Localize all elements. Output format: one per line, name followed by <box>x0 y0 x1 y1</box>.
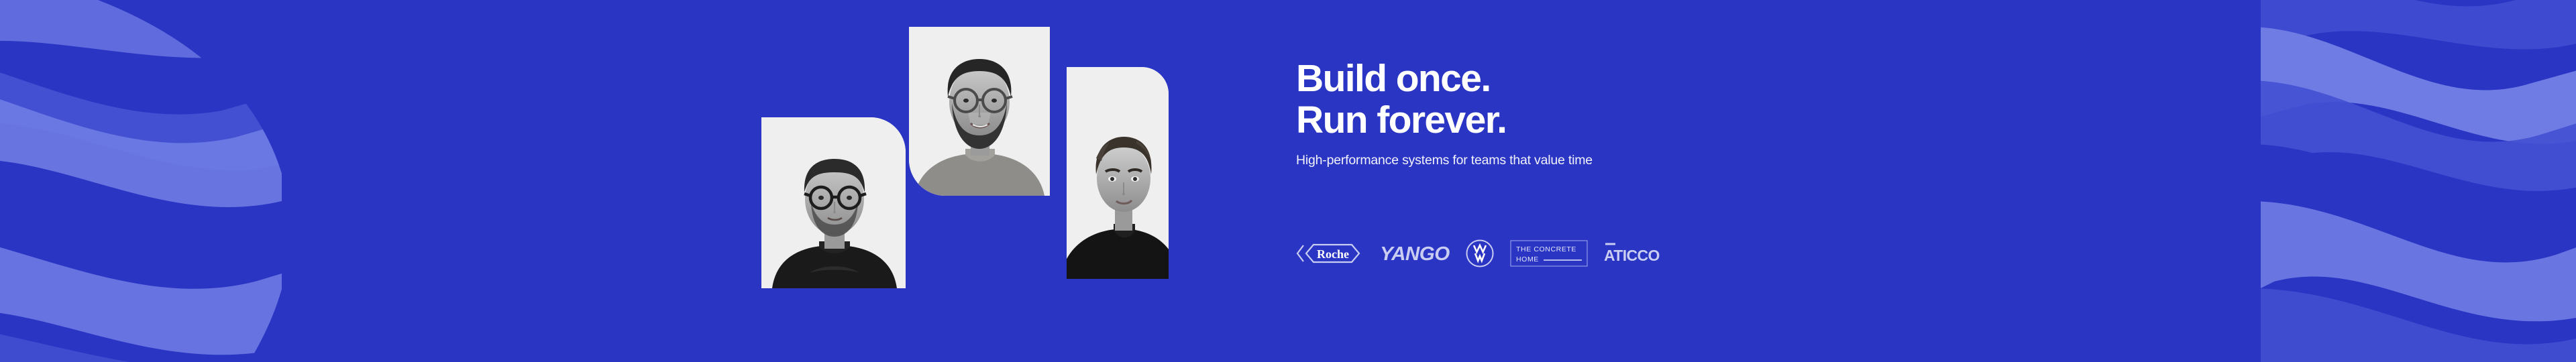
copy-block: Build once. Run forever. High-performanc… <box>1296 58 1846 168</box>
yango-logo: YANGO <box>1377 238 1450 269</box>
headline-line-1: Build once. <box>1296 58 1846 99</box>
volkswagen-logo <box>1465 238 1495 269</box>
wave-pattern-left <box>0 0 282 362</box>
client-logo-strip: Roche YANGO THE CONCRETE HOME <box>1296 238 1661 269</box>
yango-logo-label: YANGO <box>1380 243 1450 264</box>
portrait-photo-2 <box>909 27 1050 196</box>
wave-pattern-right <box>2261 0 2576 362</box>
aticco-logo: ATICCO <box>1603 238 1661 269</box>
page-title: Build once. Run forever. <box>1296 58 1846 141</box>
promo-banner: Build once. Run forever. High-performanc… <box>0 0 2576 362</box>
portrait-card-2 <box>909 27 1050 196</box>
aticco-logo-label: ATICCO <box>1604 247 1660 264</box>
headline-line-2: Run forever. <box>1296 99 1846 141</box>
subheadline: High-performance systems for teams that … <box>1296 153 1846 168</box>
concrete-home-line-1: THE CONCRETE <box>1516 245 1576 253</box>
concrete-home-line-2: HOME <box>1516 255 1539 263</box>
roche-logo-label: Roche <box>1317 247 1349 261</box>
portrait-cluster <box>758 20 1174 275</box>
portrait-card-1 <box>761 117 906 288</box>
the-concrete-home-logo: THE CONCRETE HOME <box>1510 238 1588 269</box>
roche-logo: Roche <box>1296 238 1362 269</box>
portrait-photo-3 <box>1067 67 1169 279</box>
portrait-photo-1 <box>761 117 906 288</box>
portrait-card-3 <box>1067 67 1169 279</box>
